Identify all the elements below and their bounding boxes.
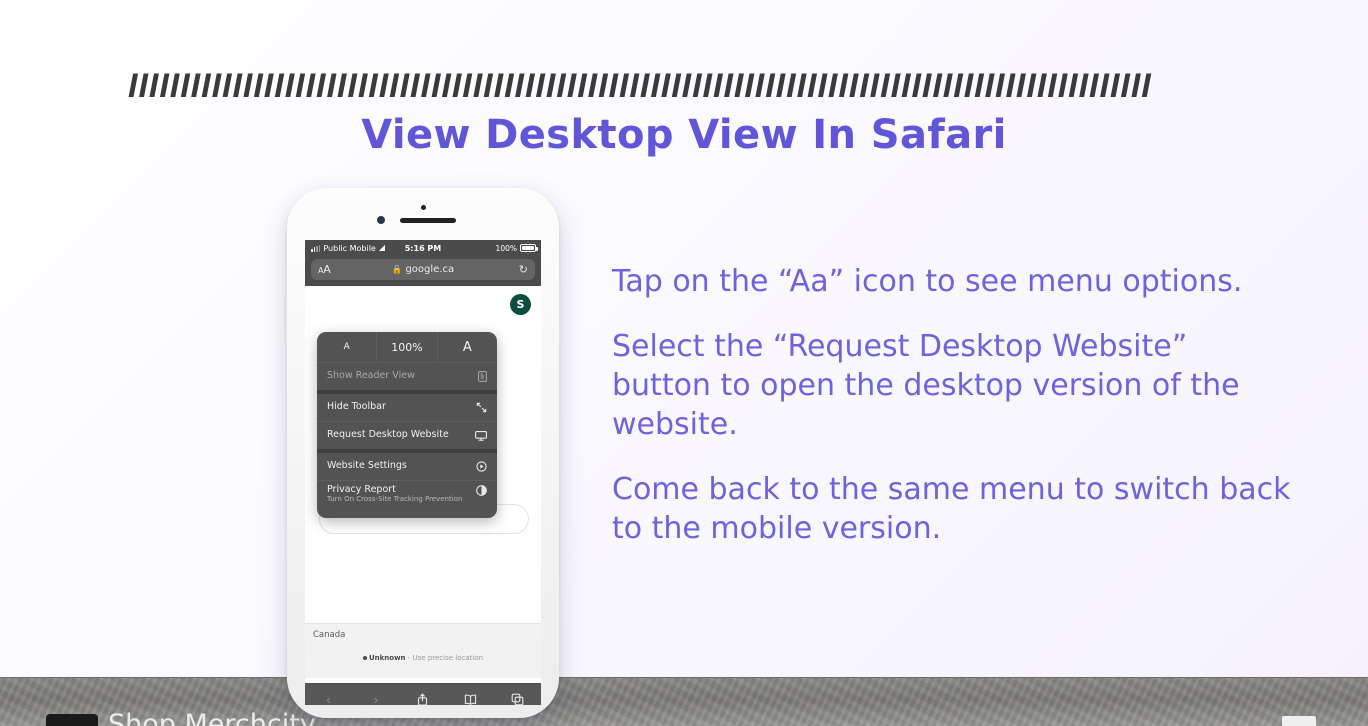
- url-bar[interactable]: AA 🔒 google.ca ↻: [311, 259, 535, 280]
- menu-item-label: Hide Toolbar: [327, 402, 386, 412]
- tabs-icon[interactable]: [504, 689, 530, 705]
- instruction-paragraph-2: Select the “Request Desktop Website” but…: [612, 327, 1292, 444]
- share-icon[interactable]: [410, 689, 436, 705]
- brand-name-label: Shop Merchcity: [108, 709, 316, 726]
- menu-item-request-desktop-website[interactable]: Request Desktop Website: [317, 422, 497, 449]
- avatar[interactable]: S: [510, 294, 531, 315]
- menu-item-text: Privacy Report Turn On Cross-Site Tracki…: [327, 485, 462, 504]
- menu-item-privacy-report[interactable]: Privacy Report Turn On Cross-Site Tracki…: [317, 481, 497, 518]
- bookmarks-icon[interactable]: [457, 689, 483, 705]
- footer-country-label: Canada: [313, 630, 345, 640]
- privacy-report-icon: [476, 485, 487, 496]
- back-icon[interactable]: ‹: [316, 689, 342, 705]
- url-display: 🔒 google.ca: [392, 264, 454, 275]
- lock-icon: 🔒: [392, 265, 403, 275]
- iphone-mockup: Public Mobile ◢ 5:16 PM 100% AA 🔒 google…: [287, 188, 559, 718]
- microphone-icon: [421, 205, 426, 210]
- menu-item-show-reader-view[interactable]: Show Reader View: [317, 363, 497, 390]
- reload-icon[interactable]: ↻: [519, 263, 528, 276]
- aa-popover-menu: A 100% A Show Reader View: [317, 332, 497, 518]
- status-bar: Public Mobile ◢ 5:16 PM 100%: [305, 240, 541, 256]
- brand-chip-icon: [1282, 716, 1316, 726]
- zoom-in-button[interactable]: A: [437, 332, 497, 362]
- desktop-monitor-icon: [475, 431, 487, 441]
- menu-item-website-settings[interactable]: Website Settings: [317, 453, 497, 480]
- location-dot-icon: [363, 656, 367, 660]
- webpage-content: S Canada Unknown - Use precise location …: [305, 286, 541, 705]
- menu-item-label: Show Reader View: [327, 371, 415, 381]
- menu-item-label: Website Settings: [327, 461, 407, 471]
- instruction-paragraph-3: Come back to the same menu to switch bac…: [612, 470, 1292, 548]
- menu-item-hide-toolbar[interactable]: Hide Toolbar: [317, 394, 497, 421]
- menu-item-label: Request Desktop Website: [327, 430, 449, 440]
- page-footer: Canada Unknown - Use precise location: [305, 623, 541, 678]
- brand-logo-icon: [46, 714, 98, 726]
- popover-caret: [333, 332, 345, 333]
- aa-text-size-button[interactable]: AA: [318, 263, 330, 276]
- decorative-dash-rule: IIIIIIIIIIIIIIIIIIIIIIIIIIIIIIIIIIIIIIII…: [128, 72, 1208, 100]
- menu-item-sublabel: Turn On Cross-Site Tracking Prevention: [327, 496, 462, 504]
- battery-percent-label: 100%: [496, 244, 517, 253]
- instruction-text: Tap on the “Aa” icon to see menu options…: [612, 262, 1292, 548]
- status-bar-right: 100%: [496, 244, 536, 253]
- location-label: Unknown: [369, 654, 406, 662]
- hide-toolbar-icon: [476, 402, 487, 413]
- zoom-controls-row: A 100% A: [317, 332, 497, 363]
- safari-bottom-toolbar: ‹ ›: [305, 683, 541, 705]
- url-text: google.ca: [405, 264, 454, 275]
- menu-item-label: Privacy Report: [327, 485, 462, 495]
- zoom-out-button[interactable]: A: [317, 332, 376, 362]
- bottom-banner-strip: Shop Merchcity: [0, 677, 1368, 726]
- website-settings-icon: [476, 461, 487, 472]
- reader-view-icon: [478, 371, 487, 382]
- page-title: View Desktop View In Safari: [0, 112, 1368, 158]
- footer-location-row: Unknown - Use precise location: [305, 654, 541, 662]
- forward-icon[interactable]: ›: [363, 689, 389, 705]
- location-action-link[interactable]: - Use precise location: [408, 654, 483, 662]
- slide-root: IIIIIIIIIIIIIIIIIIIIIIIIIIIIIIIIIIIIIIII…: [0, 0, 1368, 726]
- front-camera-icon: [377, 216, 385, 224]
- instruction-paragraph-1: Tap on the “Aa” icon to see menu options…: [612, 262, 1292, 301]
- phone-screen: Public Mobile ◢ 5:16 PM 100% AA 🔒 google…: [305, 240, 541, 705]
- battery-icon: [520, 244, 536, 252]
- url-bar-container: AA 🔒 google.ca ↻: [305, 256, 541, 286]
- earpiece-speaker: [400, 218, 456, 223]
- zoom-level-label[interactable]: 100%: [376, 332, 436, 362]
